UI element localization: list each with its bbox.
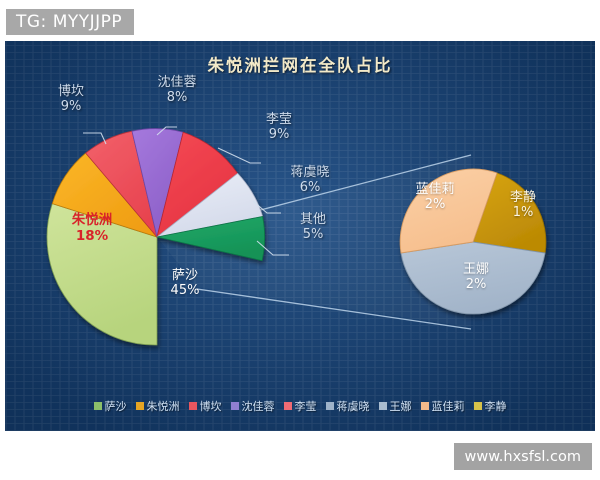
legend-item-wangna[interactable]: 王娜 xyxy=(379,398,412,414)
legend-swatch-wangna xyxy=(379,402,387,410)
legend-label-jiangyuxiao: 蒋虞晓 xyxy=(337,398,370,414)
main-pie xyxy=(47,129,265,345)
telegram-watermark: TG: MYYJJPP xyxy=(6,9,134,35)
legend-swatch-lanjiali xyxy=(421,402,429,410)
legend-item-sasha[interactable]: 萨沙 xyxy=(94,398,127,414)
legend-label-zhuyuezhou: 朱悦洲 xyxy=(147,398,180,414)
legend-swatch-lijing xyxy=(474,402,482,410)
legend-swatch-zhuyuezhou xyxy=(136,402,144,410)
site-watermark: www.hxsfsl.com xyxy=(454,443,592,470)
legend-label-sasha: 萨沙 xyxy=(105,398,127,414)
legend-item-shenjiarong[interactable]: 沈佳蓉 xyxy=(231,398,275,414)
legend-item-bokan[interactable]: 博坎 xyxy=(189,398,222,414)
pie-chart-graphic xyxy=(5,41,595,431)
chart-title: 朱悦洲拦网在全队占比 xyxy=(5,52,595,76)
chart-legend: 萨沙 朱悦洲 博坎 沈佳蓉 李莹 蒋虞晓 王娜 蓝佳莉 xyxy=(5,398,595,414)
legend-label-lanjiali: 蓝佳莉 xyxy=(432,398,465,414)
legend-item-jiangyuxiao[interactable]: 蒋虞晓 xyxy=(326,398,370,414)
legend-label-liying: 李莹 xyxy=(295,398,317,414)
legend-item-liying[interactable]: 李莹 xyxy=(284,398,317,414)
legend-swatch-sasha xyxy=(94,402,102,410)
chart-panel: 朱悦洲拦网在全队占比 xyxy=(5,41,595,431)
legend-swatch-liying xyxy=(284,402,292,410)
legend-label-bokan: 博坎 xyxy=(200,398,222,414)
legend-swatch-jiangyuxiao xyxy=(326,402,334,410)
legend-label-lijing: 李静 xyxy=(485,398,507,414)
legend-item-lijing[interactable]: 李静 xyxy=(474,398,507,414)
legend-swatch-bokan xyxy=(189,402,197,410)
legend-swatch-shenjiarong xyxy=(231,402,239,410)
legend-item-zhuyuezhou[interactable]: 朱悦洲 xyxy=(136,398,180,414)
legend-item-lanjiali[interactable]: 蓝佳莉 xyxy=(421,398,465,414)
legend-label-wangna: 王娜 xyxy=(390,398,412,414)
legend-label-shenjiarong: 沈佳蓉 xyxy=(242,398,275,414)
detail-pie xyxy=(400,169,546,314)
